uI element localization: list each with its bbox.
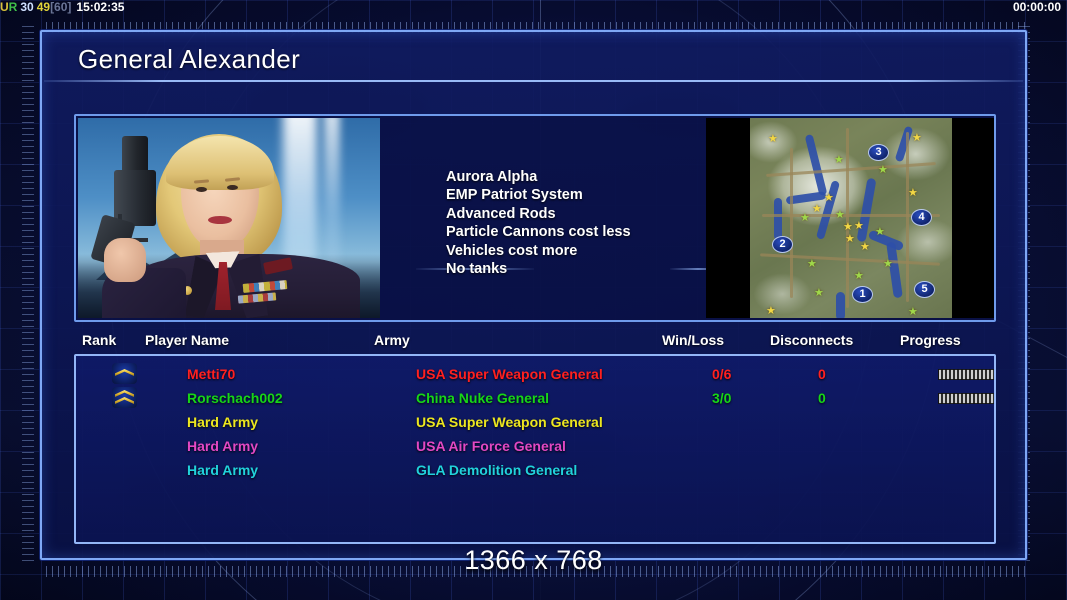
minimap-resource-icon: ★ <box>908 308 917 317</box>
player-name-cell: Hard Army <box>187 410 258 434</box>
minimap-start-position-2: 2 <box>772 236 793 253</box>
minimap-start-position-4: 4 <box>911 209 932 226</box>
net-ping-value: 30 <box>17 0 33 15</box>
minimap-river <box>886 242 903 299</box>
table-row: Rorschach002China Nuke General3/00 <box>76 386 994 410</box>
player-table-body: Metti70USA Super Weapon General0/60Rorsc… <box>74 354 996 544</box>
minimap-start-position-5: 5 <box>914 281 935 298</box>
chevron-icon <box>112 363 137 384</box>
general-info-box: Aurora Alpha EMP Patriot System Advanced… <box>74 114 996 322</box>
minimap-road <box>790 148 793 298</box>
progress-cell <box>938 393 996 404</box>
loading-panel: General Alexander <box>40 30 1027 560</box>
minimap-resource-icon: ★ <box>814 289 823 298</box>
progress-bar <box>938 393 996 404</box>
minimap-river <box>836 292 845 318</box>
net-upload-indicator: U <box>0 0 9 15</box>
portrait-hair-front <box>166 136 274 190</box>
chevron-icon <box>115 390 134 397</box>
page-title: General Alexander <box>78 44 300 75</box>
portrait-hand <box>104 238 146 282</box>
minimap-resource-icon: ★ <box>845 235 854 244</box>
minimap-resource-icon: ★ <box>854 272 863 281</box>
net-download-indicator: R <box>9 0 18 15</box>
ruler-left <box>22 26 34 566</box>
minimap-resource-icon: ★ <box>834 156 843 165</box>
column-header-win-loss: Win/Loss <box>662 332 724 348</box>
rank-badge <box>112 363 137 384</box>
minimap-resource-icon: ★ <box>800 214 809 223</box>
disconnects-cell: 0 <box>818 362 826 386</box>
minimap-resource-icon: ★ <box>824 194 833 203</box>
player-name-cell: Metti70 <box>187 362 235 386</box>
chevron-icon <box>112 387 137 408</box>
minimap-resource-icon: ★ <box>912 134 921 143</box>
minimap-resource-icon: ★ <box>908 189 917 198</box>
ability-item: Advanced Rods <box>446 205 631 223</box>
minimap-resource-icon: ★ <box>878 166 887 175</box>
column-header-army: Army <box>374 332 410 348</box>
minimap-resource-icon: ★ <box>835 211 844 220</box>
army-cell: USA Air Force General <box>416 434 566 458</box>
minimap-road <box>846 128 849 308</box>
minimap-start-position-1: 1 <box>852 286 873 303</box>
net-fps-value: 49 <box>34 0 50 15</box>
game-loading-screen: UR3049[60]15:02:35 00:00:00 General Alex… <box>0 0 1067 600</box>
column-header-player-name: Player Name <box>145 332 229 348</box>
table-row: Hard ArmyGLA Demolition General <box>76 458 994 482</box>
table-row: Hard ArmyUSA Super Weapon General <box>76 410 994 434</box>
match-timer: 00:00:00 <box>1013 0 1061 15</box>
minimap-resource-icon: ★ <box>807 260 816 269</box>
win-loss-cell: 0/6 <box>712 362 731 386</box>
ability-item: No tanks <box>446 260 631 278</box>
table-row: Metti70USA Super Weapon General0/60 <box>76 362 994 386</box>
ability-item: EMP Patriot System <box>446 186 631 204</box>
player-name-cell: Hard Army <box>187 458 258 482</box>
minimap-river <box>805 134 828 196</box>
minimap-river <box>774 198 782 240</box>
portrait-eye-right <box>227 185 238 190</box>
minimap-resource-icon: ★ <box>843 223 852 232</box>
progress-cell <box>938 369 996 380</box>
progress-bar <box>938 369 996 380</box>
column-header-disconnects: Disconnects <box>770 332 853 348</box>
portrait-eye-left <box>196 187 207 192</box>
player-name-cell: Hard Army <box>187 434 258 458</box>
column-header-progress: Progress <box>900 332 961 348</box>
chevron-icon <box>115 369 134 376</box>
minimap-road <box>906 132 909 302</box>
player-name-cell: Rorschach002 <box>187 386 283 410</box>
portrait-lips <box>208 216 232 224</box>
minimap-river <box>895 126 914 163</box>
minimap-resource-icon: ★ <box>860 243 869 252</box>
net-fps-max-value: [60] <box>50 0 71 15</box>
minimap-resource-icon: ★ <box>854 222 863 231</box>
minimap-preview: ★★★★★★★★★★★★★★★★★★★★12345 <box>706 118 994 318</box>
rank-badge <box>112 387 137 408</box>
general-portrait <box>78 118 380 318</box>
minimap-resource-icon: ★ <box>883 260 892 269</box>
network-status-bar: UR3049[60]15:02:35 00:00:00 <box>0 0 1067 15</box>
ability-item: Vehicles cost more <box>446 242 631 260</box>
minimap-resource-icon: ★ <box>768 135 777 144</box>
disconnects-cell: 0 <box>818 386 826 410</box>
army-cell: USA Super Weapon General <box>416 410 603 434</box>
title-divider <box>44 80 1023 82</box>
minimap-start-position-3: 3 <box>868 144 889 161</box>
army-cell: China Nuke General <box>416 386 549 410</box>
win-loss-cell: 3/0 <box>712 386 731 410</box>
army-cell: USA Super Weapon General <box>416 362 603 386</box>
ability-item: Particle Cannons cost less <box>446 223 631 241</box>
minimap-terrain: ★★★★★★★★★★★★★★★★★★★★12345 <box>750 118 952 318</box>
player-table-header: Rank Player Name Army Win/Loss Disconnec… <box>74 332 996 352</box>
system-clock: 15:02:35 <box>71 0 124 15</box>
column-header-rank: Rank <box>82 332 116 348</box>
chevron-icon <box>115 397 134 404</box>
minimap-road <box>760 253 940 265</box>
minimap-resource-icon: ★ <box>766 307 775 316</box>
resolution-label: 1366 x 768 <box>0 545 1067 576</box>
table-row: Hard ArmyUSA Air Force General <box>76 434 994 458</box>
minimap-resource-icon: ★ <box>812 205 821 214</box>
general-abilities-list: Aurora Alpha EMP Patriot System Advanced… <box>446 168 631 278</box>
minimap-resource-icon: ★ <box>875 228 884 237</box>
army-cell: GLA Demolition General <box>416 458 577 482</box>
ability-item: Aurora Alpha <box>446 168 631 186</box>
